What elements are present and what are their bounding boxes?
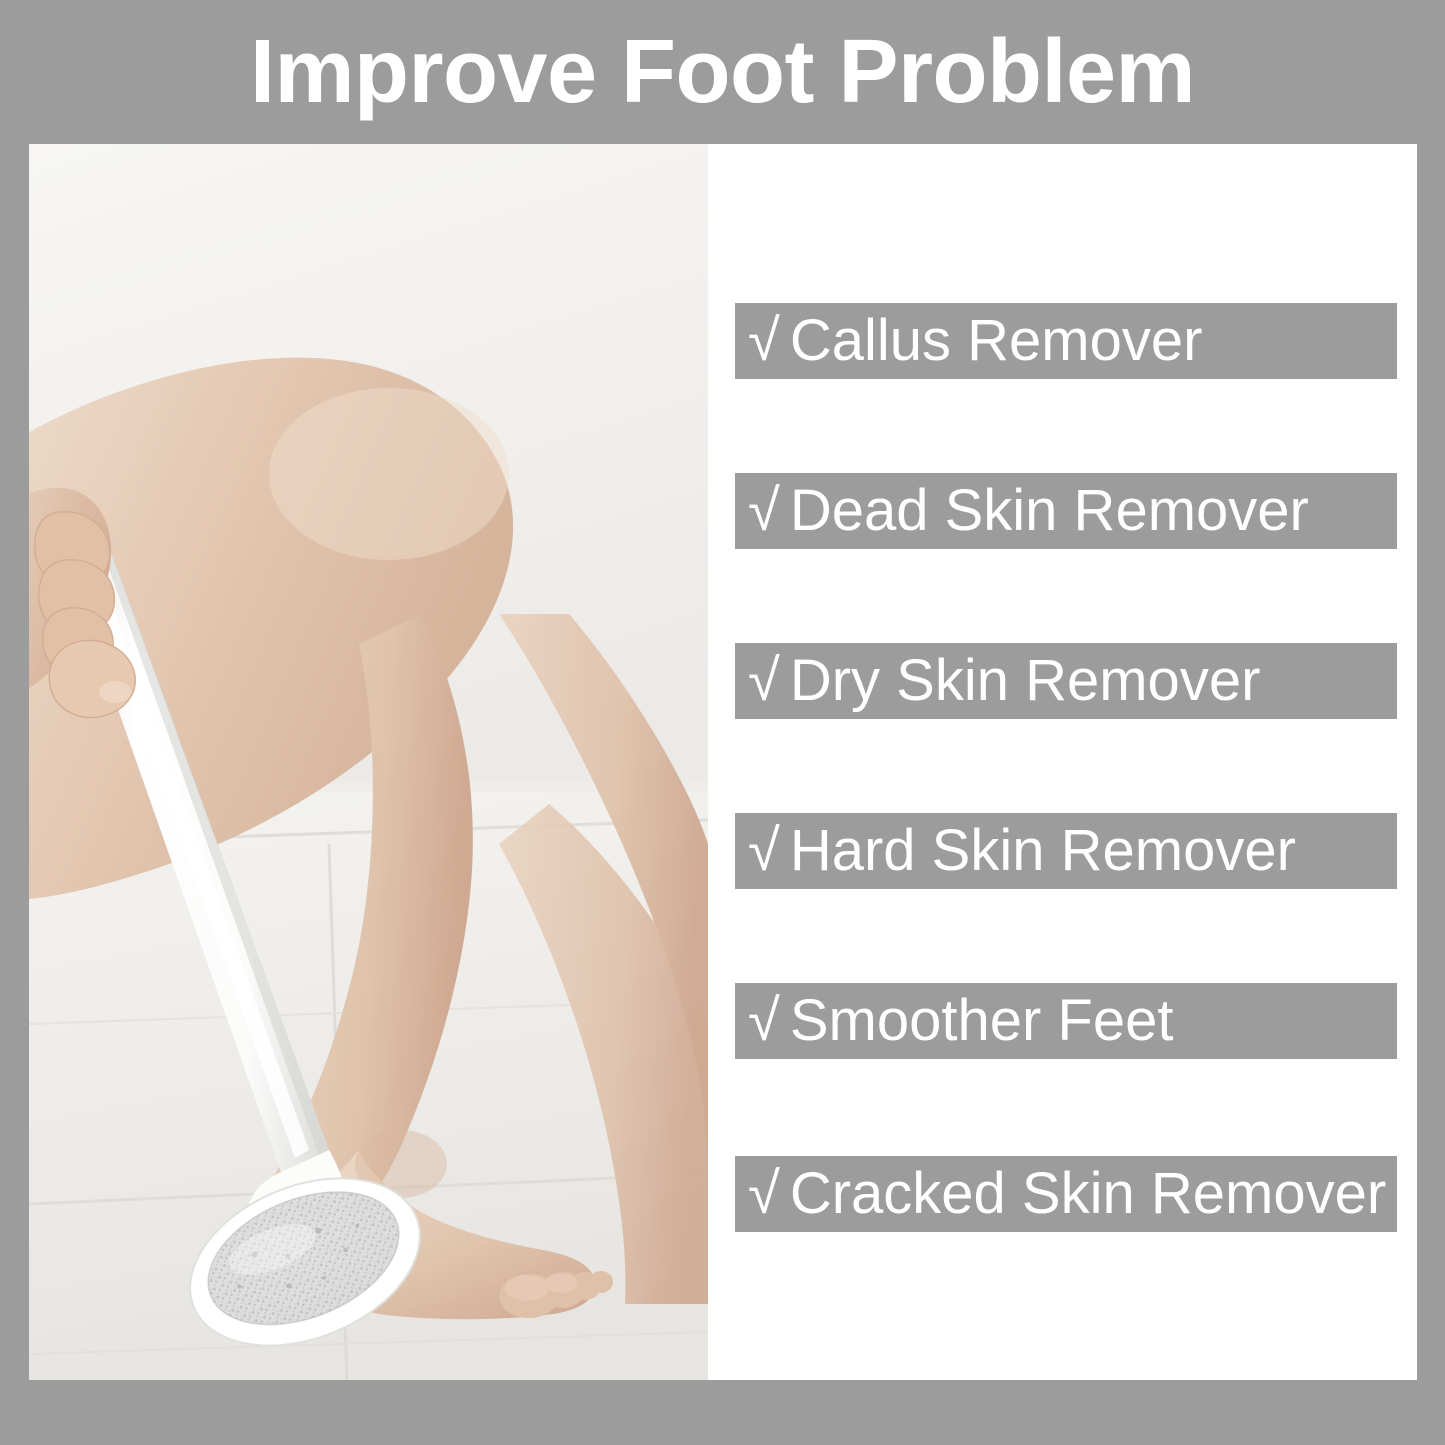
feature-item-label: √Smoother Feet: [735, 983, 1173, 1059]
check-icon: √: [748, 1156, 780, 1232]
title-banner: Improve Foot Problem: [0, 0, 1445, 144]
feature-item-label: √Callus Remover: [735, 303, 1202, 379]
feature-item-cracked-skin-remover[interactable]: √Cracked Skin Remover: [735, 1156, 1397, 1232]
feature-text: Hard Skin Remover: [790, 818, 1296, 883]
feature-item-hard-skin-remover[interactable]: √Hard Skin Remover: [735, 813, 1397, 889]
feature-item-label: √Dry Skin Remover: [735, 643, 1260, 719]
feature-item-label: √Cracked Skin Remover: [735, 1156, 1386, 1232]
check-icon: √: [748, 983, 780, 1059]
foot-file-photo-illustration: [29, 144, 708, 1380]
content-card: √Callus Remover √Dead Skin Remover √Dry …: [29, 144, 1417, 1380]
feature-text: Cracked Skin Remover: [790, 1161, 1386, 1226]
check-icon: √: [748, 473, 780, 549]
check-icon: √: [748, 813, 780, 889]
feature-item-callus-remover[interactable]: √Callus Remover: [735, 303, 1397, 379]
feature-text: Callus Remover: [790, 308, 1203, 373]
feature-text: Smoother Feet: [790, 988, 1174, 1053]
page-title: Improve Foot Problem: [250, 27, 1195, 117]
check-icon: √: [748, 643, 780, 719]
feature-text: Dead Skin Remover: [790, 478, 1309, 543]
feature-item-dry-skin-remover[interactable]: √Dry Skin Remover: [735, 643, 1397, 719]
feature-list: √Callus Remover √Dead Skin Remover √Dry …: [708, 144, 1417, 1380]
product-photo: [29, 144, 708, 1380]
feature-item-label: √Dead Skin Remover: [735, 473, 1309, 549]
feature-text: Dry Skin Remover: [790, 648, 1261, 713]
feature-item-dead-skin-remover[interactable]: √Dead Skin Remover: [735, 473, 1397, 549]
feature-item-smoother-feet[interactable]: √Smoother Feet: [735, 983, 1397, 1059]
check-icon: √: [748, 303, 780, 379]
feature-item-label: √Hard Skin Remover: [735, 813, 1296, 889]
